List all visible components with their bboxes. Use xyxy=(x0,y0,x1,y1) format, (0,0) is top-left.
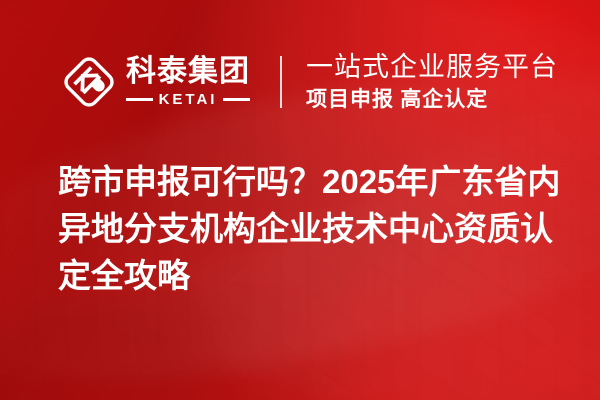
brand-name-en: KETAI xyxy=(159,92,218,107)
tagline-group: 一站式企业服务平台 项目申报 高企认定 xyxy=(306,53,558,111)
tagline-primary: 一站式企业服务平台 xyxy=(306,53,558,82)
promo-banner: 科泰集团 KETAI 一站式企业服务平台 项目申报 高企认定 跨市申报可行吗？2… xyxy=(0,0,600,400)
logo-wordmark: 科泰集团 KETAI xyxy=(126,57,250,107)
article-title[interactable]: 跨市申报可行吗？2025年广东省内 异地分支机构企业技术中心资质认 定全攻略 xyxy=(58,158,570,299)
brand-rule-left-icon xyxy=(126,98,153,101)
ketai-diamond-kp-logo-icon xyxy=(58,51,120,113)
brand-rule-right-icon xyxy=(223,98,250,101)
brand-name-en-row: KETAI xyxy=(126,92,250,107)
brand-name-cn: 科泰集团 xyxy=(126,57,250,87)
brand-header: 科泰集团 KETAI 一站式企业服务平台 项目申报 高企认定 xyxy=(58,44,558,120)
title-line: 跨市申报可行吗？2025年广东省内 xyxy=(58,158,570,205)
title-line: 定全攻略 xyxy=(58,252,570,299)
tagline-secondary: 项目申报 高企认定 xyxy=(306,87,558,111)
title-line: 异地分支机构企业技术中心资质认 xyxy=(58,205,570,252)
logo-lockup[interactable]: 科泰集团 KETAI xyxy=(58,51,250,113)
header-divider-icon xyxy=(280,56,282,108)
